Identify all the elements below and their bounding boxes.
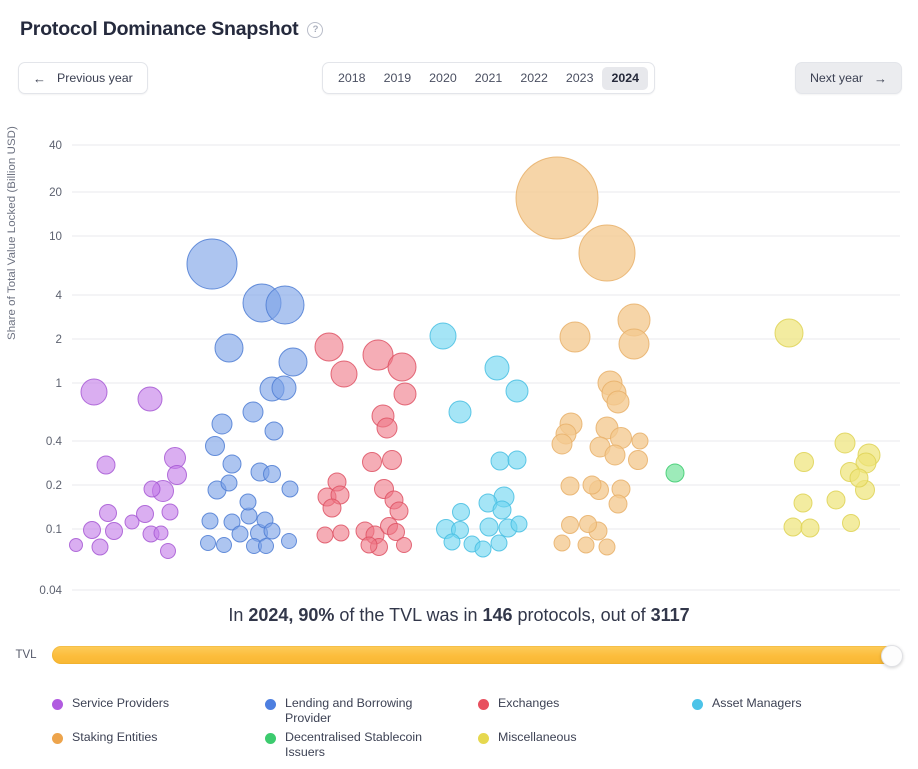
bubble[interactable] — [444, 534, 460, 550]
bubble[interactable] — [827, 491, 845, 509]
bubble-group[interactable] — [775, 319, 880, 537]
bubble[interactable] — [84, 522, 101, 539]
caption-protocol-count: 146 — [482, 605, 512, 625]
bubble[interactable] — [775, 319, 803, 347]
title-row: Protocol Dominance Snapshot ? — [20, 18, 323, 41]
bubble[interactable] — [430, 323, 456, 349]
bubble[interactable] — [97, 456, 115, 474]
year-option-2019[interactable]: 2019 — [375, 67, 421, 90]
bubble[interactable] — [666, 464, 684, 482]
legend-item[interactable]: Miscellaneous — [478, 730, 577, 745]
bubble[interactable] — [317, 527, 333, 543]
y-tick-label: 2 — [56, 333, 62, 346]
bubble[interactable] — [232, 526, 248, 542]
bubble[interactable] — [144, 481, 160, 497]
bubble-group[interactable] — [187, 239, 307, 554]
bubble[interactable] — [363, 453, 382, 472]
bubble[interactable] — [843, 515, 860, 532]
controls-row: ← Previous year 2018 2019 2020 2021 2022… — [0, 62, 918, 96]
bubble[interactable] — [243, 402, 263, 422]
y-axis-tick-labels: 4020104210.40.20.10.04 — [39, 139, 62, 597]
bubble[interactable] — [106, 523, 123, 540]
bubble[interactable] — [835, 433, 855, 453]
arrow-left-icon: ← — [33, 71, 46, 86]
bubble[interactable] — [475, 541, 491, 557]
bubble[interactable] — [92, 539, 108, 555]
legend-color-dot — [265, 699, 276, 710]
bubble[interactable] — [394, 383, 416, 405]
bubble-chart: Share of Total Value Locked (Billion USD… — [0, 118, 918, 598]
bubble[interactable] — [580, 516, 597, 533]
bubble-group[interactable] — [70, 379, 187, 559]
bubble[interactable] — [383, 451, 402, 470]
year-option-2018[interactable]: 2018 — [329, 67, 375, 90]
legend-item[interactable]: Service Providers — [52, 696, 169, 711]
year-selector[interactable]: 2018 2019 2020 2021 2022 2023 2024 — [322, 62, 655, 94]
protocol-dominance-page: Protocol Dominance Snapshot ? ← Previous… — [0, 0, 918, 769]
bubble[interactable] — [480, 518, 498, 536]
bubble[interactable] — [599, 539, 615, 555]
bubble[interactable] — [215, 334, 243, 362]
bubble[interactable] — [508, 451, 526, 469]
bubble[interactable] — [125, 515, 139, 529]
legend-item-label: Decentralised Stablecoin Issuers — [285, 730, 437, 760]
legend-item-label: Miscellaneous — [498, 730, 577, 745]
tvl-slider-track[interactable] — [52, 646, 900, 664]
bubble[interactable] — [138, 387, 162, 411]
y-tick-label: 0.4 — [46, 435, 63, 448]
bubble[interactable] — [315, 333, 343, 361]
bubble[interactable] — [331, 361, 357, 387]
bubble[interactable] — [282, 481, 298, 497]
bubble[interactable] — [491, 535, 507, 551]
bubble[interactable] — [323, 499, 341, 517]
bubble[interactable] — [850, 469, 868, 487]
previous-year-button[interactable]: ← Previous year — [18, 62, 148, 94]
bubble-group[interactable] — [666, 464, 684, 482]
bubble[interactable] — [100, 505, 117, 522]
legend-color-dot — [265, 733, 276, 744]
legend-item[interactable]: Lending and Borrowing Provider — [265, 696, 437, 726]
bubble[interactable] — [272, 376, 296, 400]
y-tick-label: 0.2 — [46, 479, 62, 492]
legend-item[interactable]: Staking Entities — [52, 730, 157, 745]
legend: Service ProvidersLending and Borrowing P… — [0, 688, 918, 766]
question-mark-circle-icon[interactable]: ? — [307, 22, 323, 38]
bubble[interactable] — [506, 380, 528, 402]
bubble[interactable] — [264, 466, 281, 483]
bubble[interactable] — [552, 434, 572, 454]
caption-total-count: 3117 — [651, 605, 690, 625]
bubble[interactable] — [511, 516, 527, 532]
bubble[interactable] — [240, 494, 256, 510]
bubble[interactable] — [485, 356, 509, 380]
caption-prefix: In — [228, 605, 248, 625]
bubble[interactable] — [333, 525, 349, 541]
y-tick-label: 20 — [49, 186, 62, 199]
bubble[interactable] — [491, 452, 509, 470]
bubble[interactable] — [223, 455, 241, 473]
bubble-group[interactable] — [516, 157, 650, 555]
legend-color-dot — [478, 733, 489, 744]
bubble[interactable] — [361, 537, 377, 553]
bubble[interactable] — [81, 379, 107, 405]
bubble[interactable] — [561, 477, 579, 495]
bubble[interactable] — [397, 538, 412, 553]
bubble[interactable] — [562, 517, 579, 534]
bubble[interactable] — [453, 504, 470, 521]
bubble[interactable] — [259, 539, 274, 554]
bubble[interactable] — [264, 523, 280, 539]
bubble[interactable] — [70, 539, 83, 552]
year-option-2021[interactable]: 2021 — [466, 67, 512, 90]
y-tick-label: 10 — [49, 230, 62, 243]
year-option-2024[interactable]: 2024 — [602, 67, 648, 90]
bubble[interactable] — [801, 519, 819, 537]
bubble[interactable] — [217, 538, 232, 553]
legend-color-dot — [478, 699, 489, 710]
bubble-series-group[interactable] — [70, 157, 881, 559]
legend-item-label: Service Providers — [72, 696, 169, 711]
legend-item[interactable]: Asset Managers — [692, 696, 802, 711]
y-tick-label: 0.04 — [39, 584, 62, 597]
bubble[interactable] — [583, 476, 601, 494]
bubble[interactable] — [449, 401, 471, 423]
legend-item[interactable]: Decentralised Stablecoin Issuers — [265, 730, 437, 760]
bubble[interactable] — [221, 475, 237, 491]
bubble[interactable] — [282, 534, 297, 549]
bubble[interactable] — [554, 535, 570, 551]
bubble[interactable] — [279, 348, 307, 376]
y-tick-label: 4 — [56, 289, 63, 302]
bubble[interactable] — [377, 418, 397, 438]
bubble[interactable] — [784, 518, 802, 536]
tvl-slider-label: TVL — [0, 649, 52, 661]
y-tick-label: 0.1 — [46, 523, 62, 536]
bubble[interactable] — [609, 495, 627, 513]
bubble-group[interactable] — [315, 333, 416, 556]
year-option-2020[interactable]: 2020 — [420, 67, 466, 90]
year-option-2022[interactable]: 2022 — [511, 67, 557, 90]
bubble[interactable] — [201, 536, 216, 551]
legend-item-label: Staking Entities — [72, 730, 157, 745]
caption-mid-1: of the TVL was in — [334, 605, 482, 625]
bubble[interactable] — [619, 329, 649, 359]
bubble[interactable] — [629, 451, 648, 470]
y-tick-label: 40 — [49, 139, 62, 152]
next-year-button[interactable]: Next year → — [795, 62, 902, 94]
bubble[interactable] — [632, 433, 648, 449]
bubble[interactable] — [388, 353, 416, 381]
legend-color-dot — [52, 733, 63, 744]
tvl-slider-row: TVL — [0, 640, 918, 670]
bubble[interactable] — [162, 504, 178, 520]
bubble[interactable] — [212, 414, 232, 434]
bubble[interactable] — [390, 502, 408, 520]
legend-item[interactable]: Exchanges — [478, 696, 559, 711]
bubble[interactable] — [605, 445, 625, 465]
bubble[interactable] — [266, 286, 304, 324]
arrow-right-icon: → — [874, 71, 887, 86]
year-option-2023[interactable]: 2023 — [557, 67, 603, 90]
y-tick-label: 1 — [56, 377, 62, 390]
tvl-slider-handle[interactable] — [881, 645, 903, 667]
bubble[interactable] — [161, 544, 176, 559]
bubble[interactable] — [516, 157, 598, 239]
bubble[interactable] — [154, 526, 168, 540]
scatter-plot-canvas[interactable]: 4020104210.40.20.10.04 — [0, 118, 918, 598]
bubble[interactable] — [168, 466, 187, 485]
bubble[interactable] — [493, 501, 511, 519]
bubble[interactable] — [795, 453, 814, 472]
legend-color-dot — [52, 699, 63, 710]
bubble[interactable] — [206, 437, 225, 456]
bubble[interactable] — [607, 391, 629, 413]
bubble[interactable] — [560, 322, 590, 352]
bubble[interactable] — [265, 422, 283, 440]
bubble[interactable] — [187, 239, 237, 289]
caption-mid-2: protocols, out of — [513, 605, 651, 625]
page-title: Protocol Dominance Snapshot — [20, 18, 298, 41]
legend-color-dot — [692, 699, 703, 710]
legend-item-label: Lending and Borrowing Provider — [285, 696, 437, 726]
bubble[interactable] — [202, 513, 218, 529]
legend-item-label: Asset Managers — [712, 696, 802, 711]
previous-year-label: Previous year — [57, 71, 133, 85]
next-year-label: Next year — [810, 71, 863, 85]
legend-item-label: Exchanges — [498, 696, 559, 711]
bubble[interactable] — [794, 494, 812, 512]
caption-year-share: 2024, 90% — [248, 605, 334, 625]
bubble-group[interactable] — [430, 323, 528, 557]
bubble[interactable] — [578, 537, 594, 553]
bubble[interactable] — [579, 225, 635, 281]
summary-caption: In 2024, 90% of the TVL was in 146 proto… — [0, 605, 918, 626]
